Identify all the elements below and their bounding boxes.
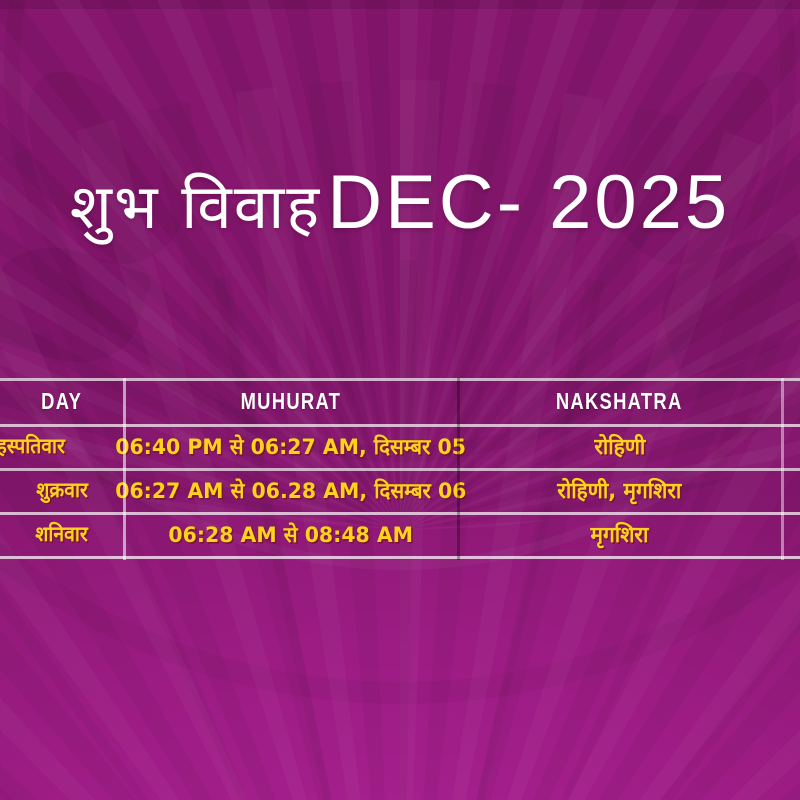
title-english: DEC- 2025	[327, 160, 730, 245]
header-cell-day: DAY	[0, 378, 124, 424]
mandala-ring-outer	[0, 0, 800, 704]
table-header-row: DAY MUHURAT NAKSHATRA	[0, 378, 800, 424]
table-row: बृहस्पतिवार 06:40 PM से 06:27 AM, दिसम्ब…	[0, 424, 800, 468]
value-nakshatra: मृगशिरा	[591, 519, 649, 549]
header-label-day: DAY	[42, 388, 83, 415]
table-border-bottom	[0, 556, 800, 559]
cell-spacer	[782, 424, 800, 468]
cell-day: शुक्रवार	[0, 468, 124, 512]
value-muhurat: 06:27 AM से 06.28 AM, दिसम्बर 06	[115, 476, 466, 505]
header-label-muhurat: MUHURAT	[240, 388, 341, 415]
header-cell-nakshatra: NAKSHATRA	[457, 378, 782, 424]
value-muhurat: 06:40 PM से 06:27 AM, दिसम्बर 05	[115, 432, 466, 461]
cell-muhurat: 06:40 PM से 06:27 AM, दिसम्बर 05	[124, 424, 457, 468]
header-cell-spacer	[782, 378, 800, 424]
value-day: शनिवार	[36, 520, 89, 548]
table-row: शुक्रवार 06:27 AM से 06.28 AM, दिसम्बर 0…	[0, 468, 800, 512]
value-day: बृहस्पतिवार	[0, 432, 65, 460]
table-divider-right	[781, 378, 784, 560]
value-nakshatra: रोहिणी, मृगशिरा	[557, 475, 681, 505]
value-muhurat: 06:28 AM से 08:48 AM	[168, 520, 413, 549]
header-cell-muhurat: MUHURAT	[124, 378, 457, 424]
title-hindi: शुभ विवाह	[70, 170, 321, 243]
header-label-nakshatra: NAKSHATRA	[556, 388, 683, 415]
table-divider-day-muhurat	[123, 378, 126, 560]
cell-spacer	[782, 512, 800, 556]
value-day: शुक्रवार	[36, 476, 88, 504]
cell-nakshatra: रोहिणी	[457, 424, 782, 468]
cell-nakshatra: मृगशिरा	[457, 512, 782, 556]
poster-title: शुभ विवाहDEC- 2025	[0, 150, 800, 255]
top-band	[0, 0, 800, 9]
cell-day: शनिवार	[0, 512, 124, 556]
cell-spacer	[782, 468, 800, 512]
table-divider-muhurat-nakshatra	[457, 378, 460, 560]
wedding-muhurat-poster: शुभ विवाहDEC- 2025 DAY MUHURAT NAKSHATRA…	[0, 0, 800, 800]
cell-muhurat: 06:27 AM से 06.28 AM, दिसम्बर 06	[124, 468, 457, 512]
cell-muhurat: 06:28 AM से 08:48 AM	[124, 512, 457, 556]
cell-day: बृहस्पतिवार	[0, 424, 124, 468]
cell-nakshatra: रोहिणी, मृगशिरा	[457, 468, 782, 512]
value-nakshatra: रोहिणी	[594, 431, 645, 461]
table-row: शनिवार 06:28 AM से 08:48 AM मृगशिरा	[0, 512, 800, 556]
